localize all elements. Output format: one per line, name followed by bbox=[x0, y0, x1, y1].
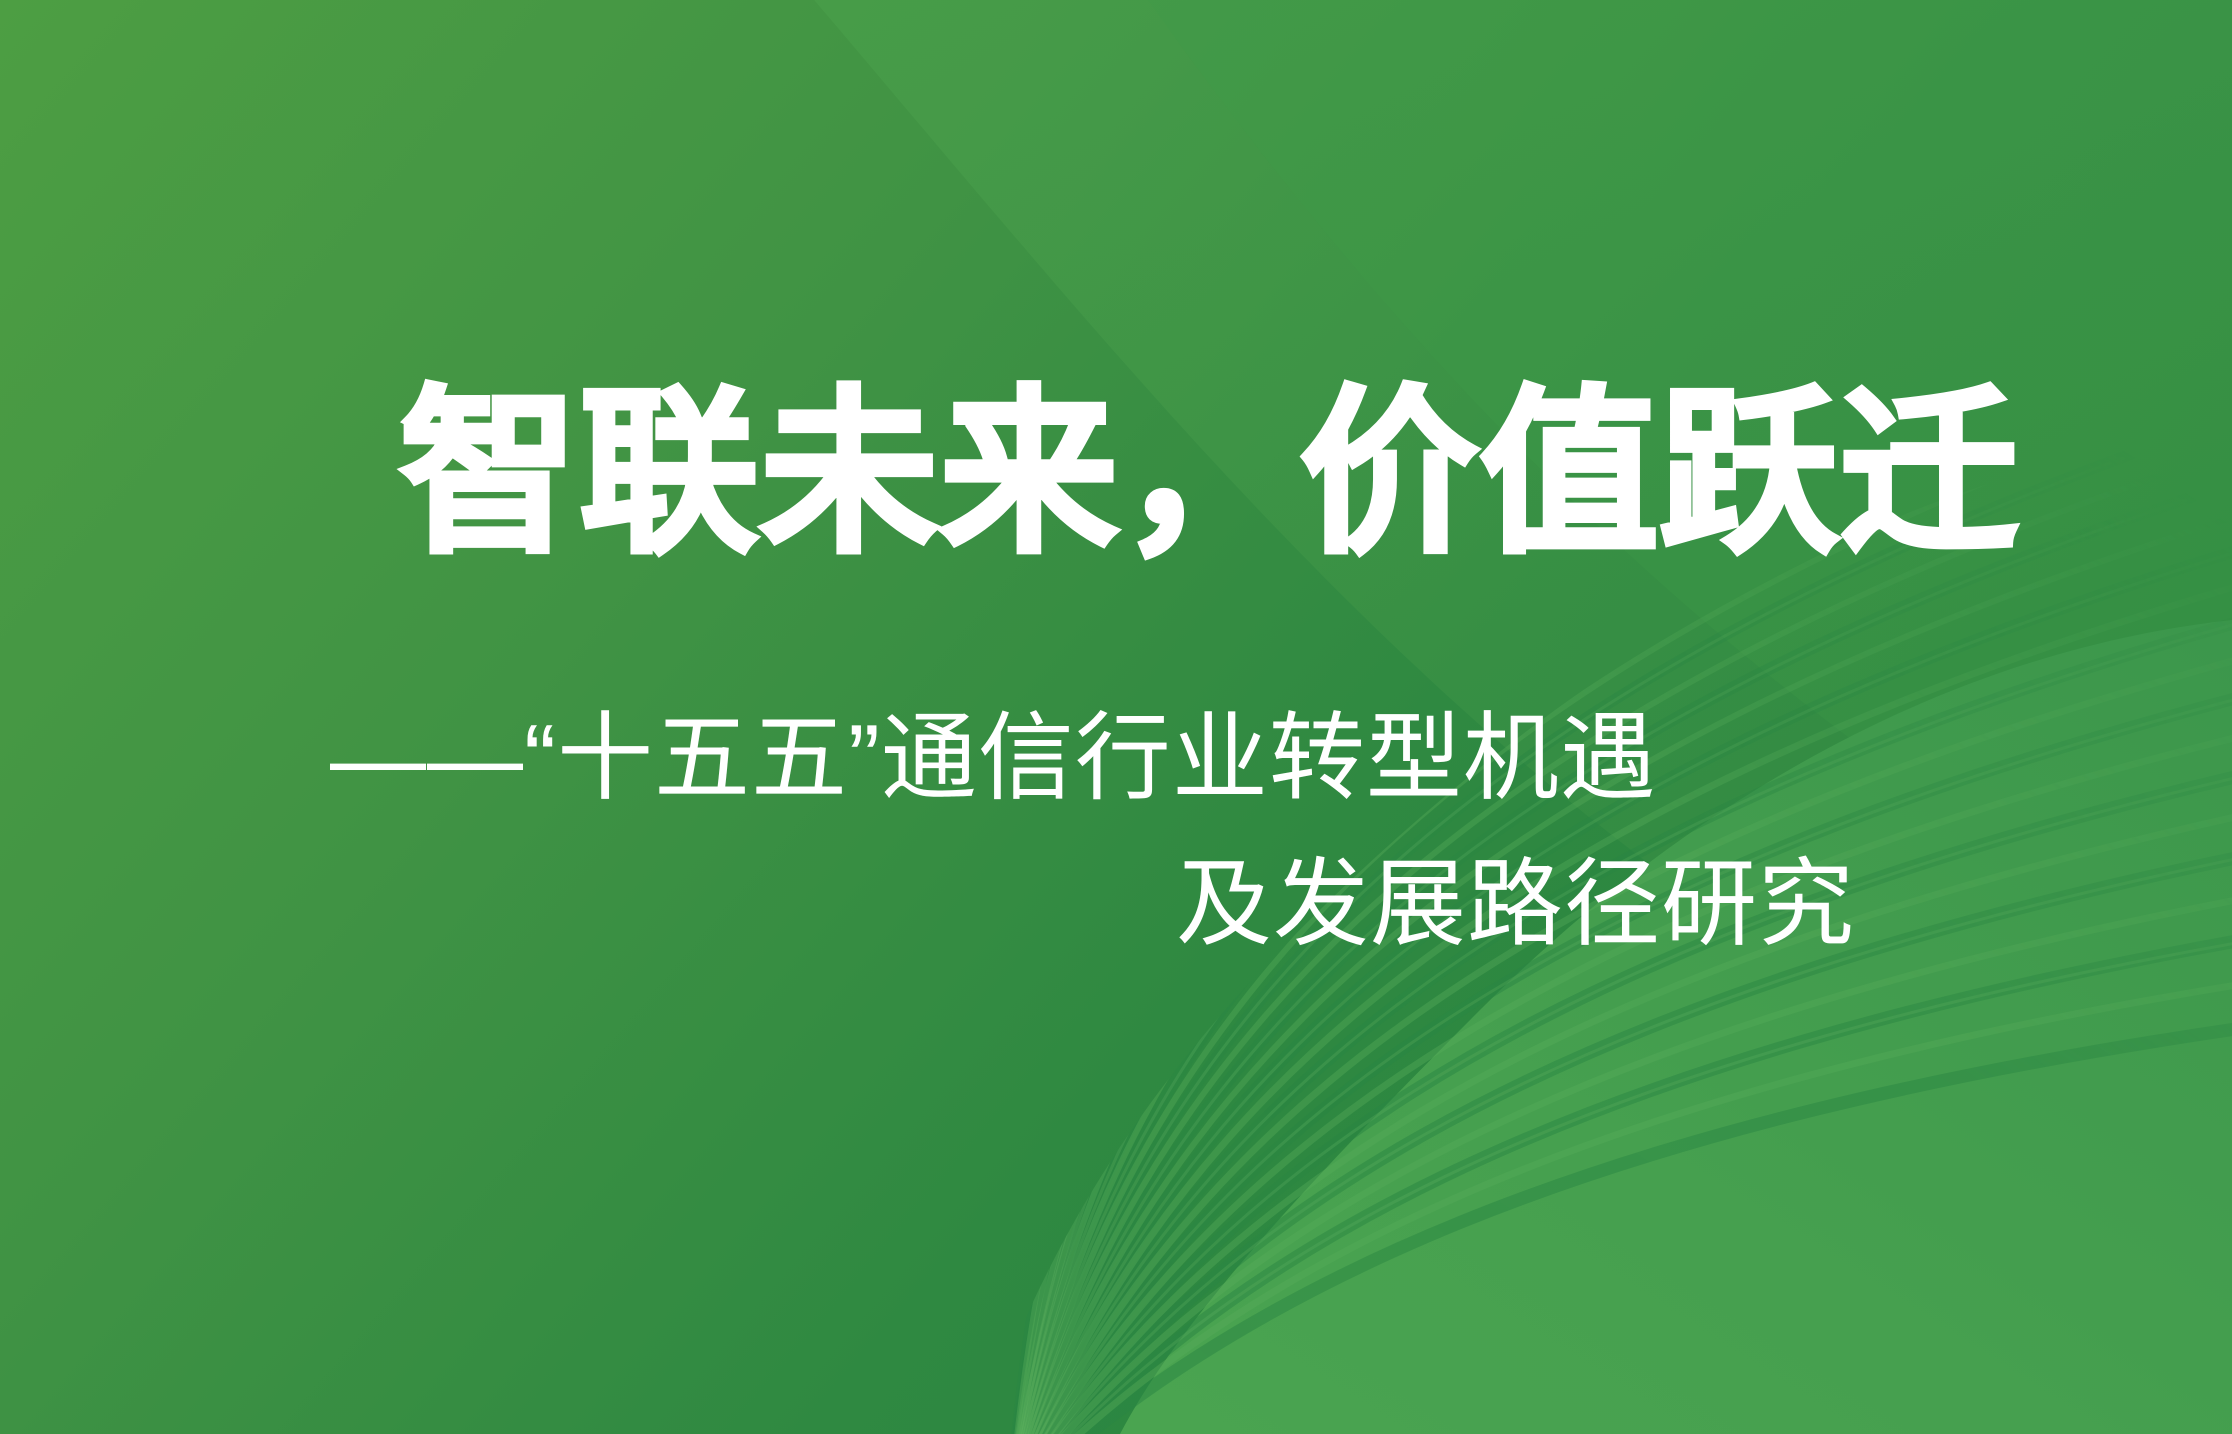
slide-content: 智联未来，价值跃迁 ——“十五五”通信行业转型机遇 及发展路径研究 bbox=[0, 0, 2232, 1434]
subtitle-line-1: ——“十五五”通信行业转型机遇 bbox=[330, 686, 1855, 832]
title-slide: 智联未来，价值跃迁 ——“十五五”通信行业转型机遇 及发展路径研究 bbox=[0, 0, 2232, 1434]
subtitle: ——“十五五”通信行业转型机遇 及发展路径研究 bbox=[330, 686, 1855, 978]
page-title: 智联未来，价值跃迁 bbox=[400, 385, 1900, 563]
subtitle-line-2: 及发展路径研究 bbox=[330, 832, 1855, 978]
